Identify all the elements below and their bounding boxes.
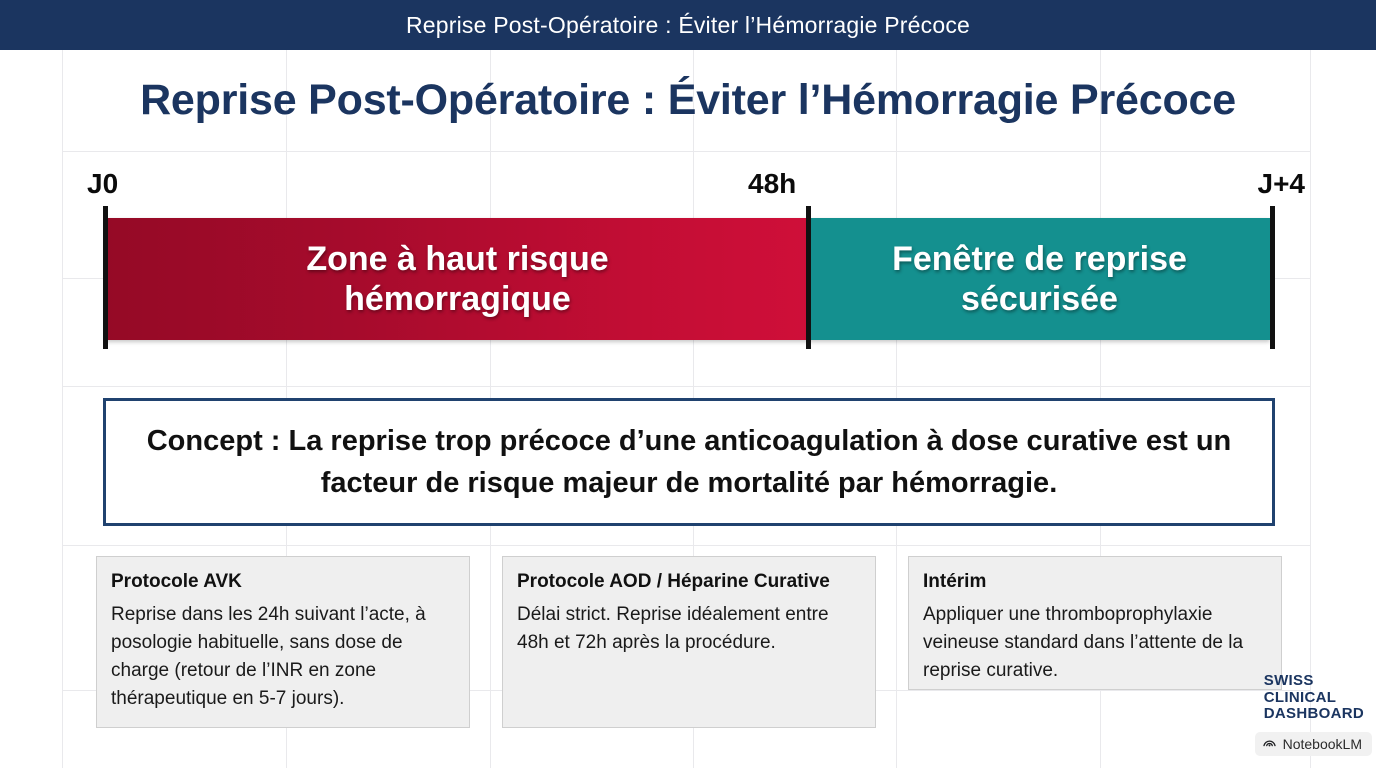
timeline-segment-high-risk: Zone à haut risque hémorragique (106, 218, 809, 340)
notebooklm-icon (1262, 734, 1277, 754)
timeline-tick-start (103, 206, 108, 349)
concept-text: Concept : La reprise trop précoce d’une … (106, 420, 1272, 504)
brand-wordmark: SWISS CLINICAL DASHBOARD (1264, 673, 1364, 722)
notebooklm-label: NotebookLM (1283, 736, 1362, 752)
brand-line-1: SWISS (1264, 673, 1364, 689)
brand-line-3: DASHBOARD (1264, 706, 1364, 722)
card-title: Protocole AOD / Héparine Curative (517, 571, 861, 594)
timeline-label-end: J+4 (1258, 168, 1306, 200)
timeline-segment-safe-window: Fenêtre de reprise sécurisée (809, 218, 1270, 340)
timeline-tick-mid (806, 206, 811, 349)
card-body: Appliquer une thromboprophylaxie veineus… (923, 601, 1267, 685)
card-body: Reprise dans les 24h suivant l’acte, à p… (111, 601, 455, 713)
segment-label-safe-window: Fenêtre de reprise sécurisée (882, 239, 1197, 319)
top-banner: Reprise Post-Opératoire : Éviter l’Hémor… (0, 0, 1376, 50)
card-title: Protocole AVK (111, 571, 455, 594)
notebooklm-badge: NotebookLM (1255, 732, 1372, 756)
timeline-label-start: J0 (87, 168, 118, 200)
card-body: Délai strict. Reprise idéalement entre 4… (517, 601, 861, 657)
risk-timeline: J0 48h J+4 Zone à haut risque hémorragiq… (103, 168, 1275, 380)
timeline-label-mid: 48h (748, 168, 796, 200)
segment-label-high-risk: Zone à haut risque hémorragique (296, 239, 618, 319)
brand-line-2: CLINICAL (1264, 690, 1364, 706)
card-title: Intérim (923, 571, 1267, 594)
protocol-cards: Protocole AVK Reprise dans les 24h suiva… (96, 556, 1282, 736)
timeline-tick-end (1270, 206, 1275, 349)
segment-label-line2: sécurisée (961, 280, 1118, 318)
protocol-card-interim: Intérim Appliquer une thromboprophylaxie… (908, 556, 1282, 690)
concept-box: Concept : La reprise trop précoce d’une … (103, 398, 1275, 526)
protocol-card-aod-heparine: Protocole AOD / Héparine Curative Délai … (502, 556, 876, 728)
slide-canvas: Reprise Post-Opératoire : Éviter l’Hémor… (0, 0, 1376, 768)
banner-title: Reprise Post-Opératoire : Éviter l’Hémor… (406, 12, 970, 39)
protocol-card-avk: Protocole AVK Reprise dans les 24h suiva… (96, 556, 470, 728)
segment-label-line1: Zone à haut risque (306, 240, 608, 278)
segment-label-line2: hémorragique (344, 280, 571, 318)
page-title: Reprise Post-Opératoire : Éviter l’Hémor… (0, 76, 1376, 125)
segment-label-line1: Fenêtre de reprise (892, 240, 1187, 278)
